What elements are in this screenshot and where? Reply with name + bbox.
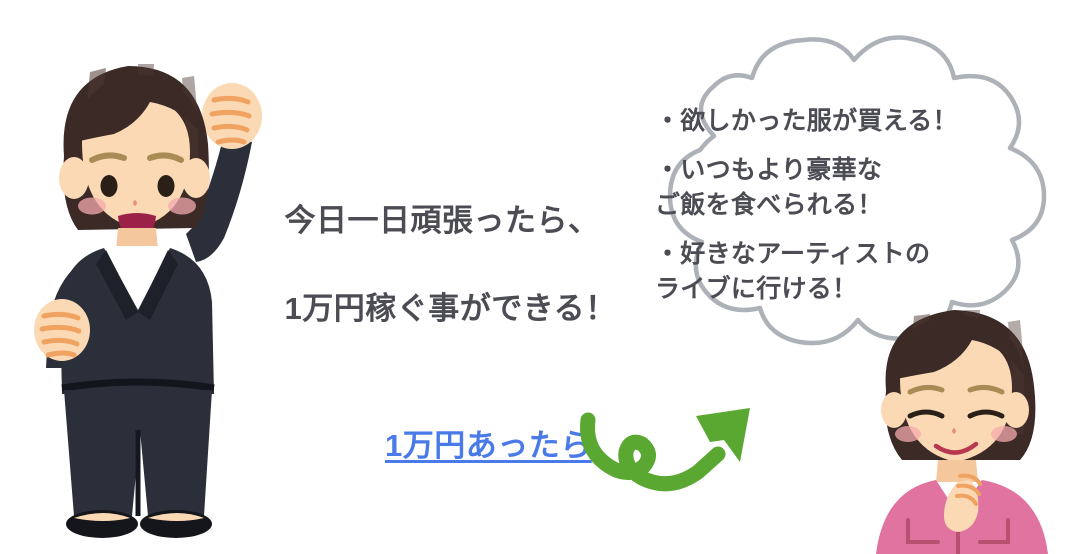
- dreaming-woman-illustration: [862, 298, 1076, 554]
- cheering-businesswoman-illustration: [18, 38, 268, 550]
- illustration-canvas: 今日一日頑張ったら、 1万円稼ぐ事ができる！ 1万円あったら 何ができる？？ ・…: [0, 0, 1076, 554]
- bubble-item-0: ・欲しかった服が買える！: [655, 104, 1015, 140]
- thought-bubble-text: ・欲しかった服が買える！ ・いつもより豪華な ご飯を食べられる！ ・好きなアーテ…: [655, 104, 1015, 308]
- main-statement-line1: 今日一日頑張ったら、: [284, 203, 599, 238]
- question-line1: 1万円あったら: [385, 423, 605, 469]
- looped-arrow-icon: [578, 396, 774, 496]
- main-statement-line2: 1万円稼ぐ事ができる！: [284, 291, 616, 326]
- bubble-item-2: ・好きなアーティストの ライブに行ける！: [655, 237, 1015, 308]
- bubble-item-1: ・いつもより豪華な ご飯を食べられる！: [655, 153, 1015, 224]
- question-heading: 1万円あったら 何ができる？？: [385, 331, 605, 554]
